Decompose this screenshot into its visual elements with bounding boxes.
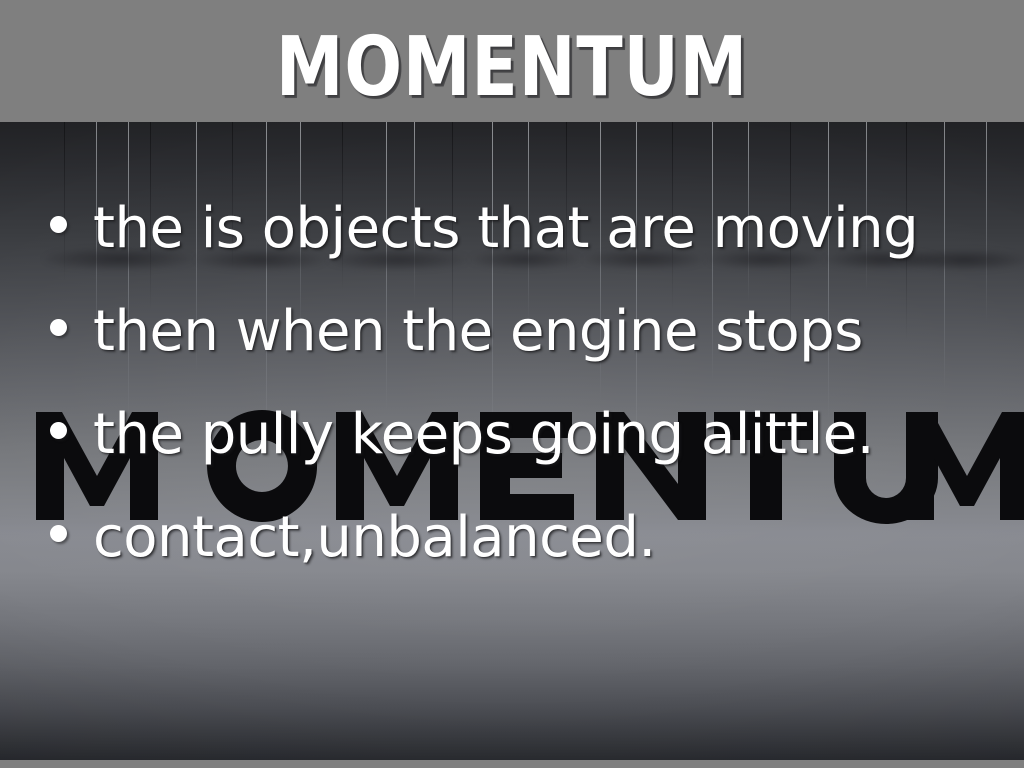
bullet-dot-icon <box>50 216 67 233</box>
bullet-item: contact,unbalanced. <box>50 507 1024 610</box>
bullet-item: the pully keeps going alittle. <box>50 404 1024 507</box>
bullet-dot-icon <box>50 319 67 336</box>
bullet-dot-icon <box>50 525 67 542</box>
bullet-item: then when the engine stops <box>50 301 1024 404</box>
bullet-list: the is objects that are moving then when… <box>50 198 1024 610</box>
bullet-text: then when the engine stops <box>93 301 863 363</box>
presentation-slide: MOMENTUM the is objects that are moving … <box>0 0 1024 768</box>
bullet-dot-icon <box>50 422 67 439</box>
bottom-gray-band <box>0 760 1024 768</box>
bullet-text: the pully keeps going alittle. <box>93 404 874 466</box>
slide-title: MOMENTUM <box>41 24 983 112</box>
bullet-text: the is objects that are moving <box>93 198 918 260</box>
bullet-item: the is objects that are moving <box>50 198 1024 301</box>
bullet-text: contact,unbalanced. <box>93 507 656 569</box>
